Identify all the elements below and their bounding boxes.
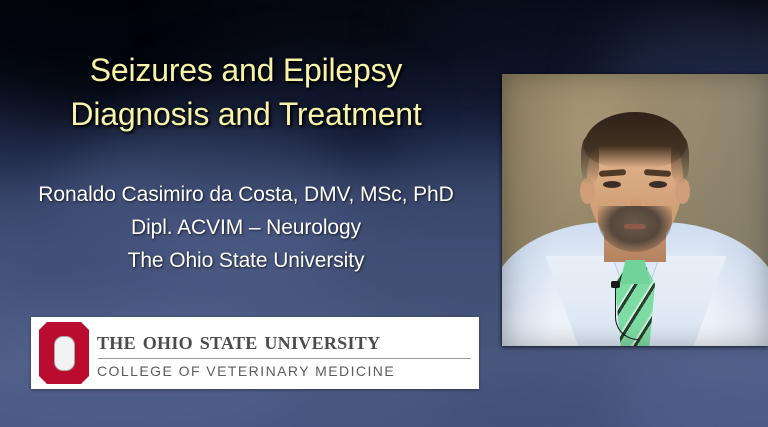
lapel-mic-icon [611, 281, 620, 288]
presentation-slide: Seizures and Epilepsy Diagnosis and Trea… [0, 0, 768, 427]
presenter-name: Ronaldo Casimiro da Costa, DMV, MSc, PhD [0, 178, 492, 211]
title-line-2: Diagnosis and Treatment [0, 92, 492, 136]
block-o-icon [31, 317, 97, 389]
logo-divider [98, 358, 471, 359]
speaker-eye-left [603, 181, 621, 188]
presenter-credentials: Dipl. ACVIM – Neurology [0, 211, 492, 244]
presenter-info: Ronaldo Casimiro da Costa, DMV, MSc, PhD… [0, 178, 492, 277]
title-line-1: Seizures and Epilepsy [0, 48, 492, 92]
speaker-eye-right [649, 181, 667, 188]
logo-university-text: The Ohio State University [97, 326, 473, 356]
osu-logo: The Ohio State University COLLEGE OF VET… [31, 317, 479, 389]
logo-college-text: COLLEGE OF VETERINARY MEDICINE [97, 363, 473, 380]
speaker-video-panel[interactable] [502, 74, 768, 346]
presenter-affiliation: The Ohio State University [0, 244, 492, 277]
slide-title: Seizures and Epilepsy Diagnosis and Trea… [0, 48, 492, 136]
speaker-mouth [624, 224, 646, 229]
